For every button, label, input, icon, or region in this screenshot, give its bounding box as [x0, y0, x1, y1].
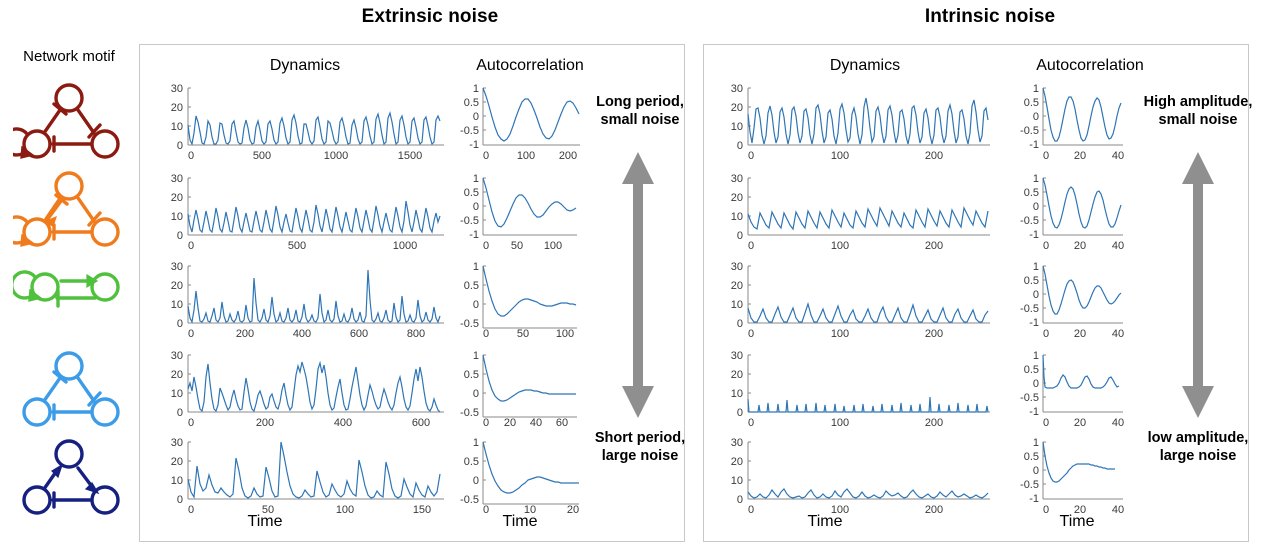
figure-root: Extrinsic noise Intrinsic noise Network … — [0, 0, 1269, 553]
svg-text:1: 1 — [1033, 173, 1039, 185]
plot-intrinsic-r1-autocorr: 1 0.5 0 -0.5 -1 0 20 40 — [1015, 80, 1145, 165]
svg-text:1: 1 — [473, 350, 479, 362]
svg-text:20: 20 — [731, 456, 743, 468]
svg-text:1000: 1000 — [393, 240, 417, 252]
svg-text:-0.5: -0.5 — [1020, 479, 1039, 491]
svg-text:0: 0 — [177, 140, 183, 152]
svg-text:1: 1 — [1033, 350, 1039, 362]
svg-text:-1: -1 — [469, 139, 479, 151]
svg-text:0.5: 0.5 — [1024, 451, 1039, 463]
svg-text:0.5: 0.5 — [1024, 275, 1039, 287]
svg-text:0.5: 0.5 — [1024, 364, 1039, 376]
svg-text:0: 0 — [473, 388, 479, 400]
svg-text:20: 20 — [731, 280, 743, 292]
svg-text:-0.5: -0.5 — [460, 494, 479, 506]
svg-text:0: 0 — [737, 230, 743, 242]
svg-text:-0.5: -0.5 — [1020, 392, 1039, 404]
svg-text:10: 10 — [171, 299, 183, 311]
plot-extrinsic-r5-dynamics: 30 20 10 0 0 50 100 150 — [155, 434, 445, 519]
col-header-intrinsic-dynamics: Dynamics — [765, 57, 965, 75]
svg-text:0: 0 — [483, 328, 489, 340]
svg-text:30: 30 — [171, 173, 183, 185]
svg-text:200: 200 — [236, 328, 254, 340]
svg-text:40: 40 — [1112, 417, 1124, 429]
plot-extrinsic-r1-dynamics: 30 20 10 0 0 500 1000 1500 — [155, 80, 445, 165]
svg-text:20: 20 — [1074, 150, 1086, 162]
svg-text:1: 1 — [1033, 83, 1039, 95]
plot-extrinsic-r4-autocorr: 1 0.5 0 -0.5 0 20 40 60 — [455, 347, 585, 432]
svg-text:200: 200 — [559, 150, 577, 162]
svg-text:0: 0 — [483, 417, 489, 429]
svg-text:600: 600 — [350, 328, 368, 340]
svg-text:0: 0 — [188, 504, 194, 516]
plot-intrinsic-r2-dynamics: 30 20 10 0 0 100 200 — [715, 170, 1005, 255]
svg-text:200: 200 — [925, 150, 943, 162]
svg-text:10: 10 — [731, 388, 743, 400]
svg-text:10: 10 — [171, 475, 183, 487]
svg-text:0: 0 — [473, 475, 479, 487]
svg-text:100: 100 — [831, 417, 849, 429]
svg-text:0: 0 — [188, 240, 194, 252]
svg-text:10: 10 — [731, 211, 743, 223]
plot-extrinsic-r5-autocorr: 1 0.5 0 -0.5 0 10 20 — [455, 434, 585, 519]
svg-text:0.5: 0.5 — [464, 280, 479, 292]
axis-title-intrinsic-autocorr: Time — [1022, 513, 1132, 531]
annotation-intrinsic-top-line2: small noise — [1159, 112, 1238, 128]
svg-text:10: 10 — [731, 121, 743, 133]
svg-text:40: 40 — [1112, 150, 1124, 162]
svg-text:800: 800 — [407, 328, 425, 340]
svg-text:30: 30 — [731, 261, 743, 273]
annotation-extrinsic-top-line2: small noise — [601, 112, 680, 128]
axis-title-extrinsic-autocorr: Time — [465, 513, 575, 531]
annotation-intrinsic-bottom-line2: large noise — [1160, 448, 1237, 464]
svg-text:-0.5: -0.5 — [460, 318, 479, 330]
svg-text:0: 0 — [748, 504, 754, 516]
svg-text:0: 0 — [483, 150, 489, 162]
svg-text:10: 10 — [731, 475, 743, 487]
svg-text:100: 100 — [831, 328, 849, 340]
annotation-extrinsic-bottom-line1: Short period, — [595, 430, 685, 446]
svg-text:0: 0 — [473, 201, 479, 213]
motif-dark-red — [8, 82, 130, 168]
svg-text:30: 30 — [171, 261, 183, 273]
svg-text:1: 1 — [1033, 437, 1039, 449]
svg-text:0: 0 — [748, 328, 754, 340]
svg-text:0: 0 — [748, 417, 754, 429]
svg-text:0.5: 0.5 — [464, 97, 479, 109]
svg-text:1: 1 — [473, 437, 479, 449]
svg-text:-0.5: -0.5 — [1020, 303, 1039, 315]
svg-text:0: 0 — [737, 407, 743, 419]
svg-text:0: 0 — [177, 230, 183, 242]
plot-extrinsic-r3-autocorr: 1 0.5 0 -0.5 0 50 100 — [455, 258, 585, 343]
svg-text:0: 0 — [483, 240, 489, 252]
svg-text:0.5: 0.5 — [1024, 187, 1039, 199]
svg-text:0: 0 — [737, 140, 743, 152]
svg-text:100: 100 — [831, 150, 849, 162]
svg-text:20: 20 — [171, 369, 183, 381]
svg-text:0: 0 — [188, 150, 194, 162]
svg-text:100: 100 — [336, 504, 354, 516]
svg-text:20: 20 — [504, 417, 516, 429]
annotation-extrinsic-top-line1: Long period, — [596, 94, 684, 110]
svg-text:20: 20 — [1074, 240, 1086, 252]
svg-text:-0.5: -0.5 — [460, 407, 479, 419]
svg-text:600: 600 — [412, 417, 430, 429]
plot-extrinsic-r1-autocorr: 1 0.5 0 -0.5 -1 0 100 200 — [455, 80, 585, 165]
svg-text:0: 0 — [1033, 465, 1039, 477]
svg-text:40: 40 — [530, 417, 542, 429]
svg-text:40: 40 — [1112, 328, 1124, 340]
svg-text:0.5: 0.5 — [464, 187, 479, 199]
col-header-intrinsic-autocorrelation: Autocorrelation — [1000, 57, 1180, 75]
svg-text:200: 200 — [925, 504, 943, 516]
plot-intrinsic-r3-dynamics: 30 20 10 0 0 100 200 — [715, 258, 1005, 343]
motif-orange — [8, 170, 130, 256]
svg-text:-1: -1 — [1029, 493, 1039, 505]
svg-text:0: 0 — [748, 150, 754, 162]
motif-light-blue — [8, 350, 130, 436]
svg-text:30: 30 — [731, 83, 743, 95]
plot-extrinsic-r2-dynamics: 30 20 10 0 0 500 1000 — [155, 170, 445, 255]
axis-title-extrinsic-dynamics: Time — [205, 513, 325, 531]
col-header-extrinsic-autocorrelation: Autocorrelation — [440, 57, 620, 75]
svg-text:400: 400 — [293, 328, 311, 340]
svg-text:-0.5: -0.5 — [1020, 215, 1039, 227]
svg-text:50: 50 — [511, 240, 523, 252]
svg-text:0: 0 — [177, 318, 183, 330]
svg-text:-1: -1 — [1029, 229, 1039, 241]
plot-intrinsic-r1-dynamics: 30 20 10 0 0 100 200 — [715, 80, 1005, 165]
svg-text:20: 20 — [171, 102, 183, 114]
svg-text:1: 1 — [473, 173, 479, 185]
panel-title-intrinsic: Intrinsic noise — [830, 6, 1150, 28]
double-headed-vertical-arrow-icon-intrinsic — [1173, 150, 1223, 425]
annotation-extrinsic-bottom: Short period, large noise — [584, 430, 696, 465]
svg-text:20: 20 — [171, 192, 183, 204]
svg-text:-1: -1 — [1029, 139, 1039, 151]
svg-text:0: 0 — [737, 318, 743, 330]
svg-text:20: 20 — [1074, 328, 1086, 340]
annotation-extrinsic-top: Long period, small noise — [586, 94, 694, 129]
svg-text:0: 0 — [177, 407, 183, 419]
svg-text:10: 10 — [171, 211, 183, 223]
svg-text:-0.5: -0.5 — [460, 125, 479, 137]
motif-navy — [8, 438, 130, 524]
svg-text:-1: -1 — [469, 229, 479, 241]
svg-text:0: 0 — [1033, 289, 1039, 301]
svg-text:0: 0 — [737, 494, 743, 506]
svg-text:-1: -1 — [1029, 317, 1039, 329]
svg-text:20: 20 — [171, 456, 183, 468]
svg-text:0: 0 — [1043, 328, 1049, 340]
plot-intrinsic-r4-dynamics: 30 20 10 0 0 100 200 — [715, 347, 1005, 432]
svg-text:0.5: 0.5 — [464, 369, 479, 381]
svg-text:20: 20 — [731, 192, 743, 204]
svg-text:500: 500 — [288, 240, 306, 252]
svg-text:0: 0 — [1043, 150, 1049, 162]
svg-text:10: 10 — [171, 121, 183, 133]
svg-text:200: 200 — [256, 417, 274, 429]
svg-text:1000: 1000 — [324, 150, 348, 162]
network-motif-column-label: Network motif — [8, 48, 130, 65]
annotation-intrinsic-bottom: low amplitude, large noise — [1136, 430, 1260, 465]
svg-text:100: 100 — [544, 240, 562, 252]
svg-text:30: 30 — [731, 173, 743, 185]
svg-text:-0.5: -0.5 — [460, 215, 479, 227]
svg-text:0: 0 — [188, 417, 194, 429]
annotation-intrinsic-bottom-line1: low amplitude, — [1148, 430, 1249, 446]
svg-text:100: 100 — [517, 150, 535, 162]
svg-text:20: 20 — [731, 369, 743, 381]
svg-text:10: 10 — [171, 388, 183, 400]
svg-text:0: 0 — [473, 299, 479, 311]
plot-intrinsic-r2-autocorr: 1 0.5 0 -0.5 -1 0 20 40 — [1015, 170, 1145, 255]
motif-green — [8, 265, 130, 351]
annotation-intrinsic-top: High amplitude, small noise — [1136, 94, 1260, 129]
svg-text:0: 0 — [1043, 417, 1049, 429]
svg-text:-1: -1 — [1029, 406, 1039, 418]
plot-extrinsic-r4-dynamics: 30 20 10 0 0 200 400 600 — [155, 347, 445, 432]
svg-text:50: 50 — [517, 328, 529, 340]
svg-text:60: 60 — [556, 417, 568, 429]
svg-text:30: 30 — [731, 437, 743, 449]
svg-text:500: 500 — [253, 150, 271, 162]
svg-text:0: 0 — [1033, 111, 1039, 123]
svg-text:1: 1 — [473, 83, 479, 95]
svg-text:20: 20 — [171, 280, 183, 292]
plot-intrinsic-r5-autocorr: 1 0.5 0 -0.5 -1 0 20 40 — [1015, 434, 1145, 519]
plot-intrinsic-r5-dynamics: 30 20 10 0 0 100 200 — [715, 434, 1005, 519]
svg-text:30: 30 — [171, 437, 183, 449]
svg-text:150: 150 — [413, 504, 431, 516]
svg-text:0.5: 0.5 — [464, 456, 479, 468]
svg-text:200: 200 — [925, 240, 943, 252]
panel-title-extrinsic: Extrinsic noise — [270, 6, 590, 28]
svg-text:1: 1 — [473, 261, 479, 273]
plot-intrinsic-r3-autocorr: 1 0.5 0 -0.5 -1 0 20 40 — [1015, 258, 1145, 343]
svg-text:20: 20 — [1074, 417, 1086, 429]
svg-text:-0.5: -0.5 — [1020, 125, 1039, 137]
svg-text:10: 10 — [731, 299, 743, 311]
svg-text:200: 200 — [925, 328, 943, 340]
svg-text:0: 0 — [1043, 240, 1049, 252]
annotation-intrinsic-top-line1: High amplitude, — [1144, 94, 1253, 110]
svg-text:0: 0 — [188, 328, 194, 340]
double-headed-vertical-arrow-icon-extrinsic — [613, 150, 663, 425]
col-header-extrinsic-dynamics: Dynamics — [205, 57, 405, 75]
svg-text:1500: 1500 — [398, 150, 422, 162]
plot-extrinsic-r3-dynamics: 30 20 10 0 0 200 400 600 800 — [155, 258, 445, 343]
svg-text:0: 0 — [1033, 378, 1039, 390]
svg-text:0: 0 — [1033, 201, 1039, 213]
plot-intrinsic-r4-autocorr: 1 0.5 0 -0.5 -1 0 20 40 — [1015, 347, 1145, 432]
svg-text:1: 1 — [1033, 261, 1039, 273]
svg-text:30: 30 — [171, 350, 183, 362]
axis-title-intrinsic-dynamics: Time — [765, 513, 885, 531]
svg-text:30: 30 — [171, 83, 183, 95]
svg-text:400: 400 — [334, 417, 352, 429]
svg-text:100: 100 — [556, 328, 574, 340]
svg-text:40: 40 — [1112, 240, 1124, 252]
svg-text:0: 0 — [473, 111, 479, 123]
svg-text:0: 0 — [177, 494, 183, 506]
svg-text:30: 30 — [731, 350, 743, 362]
svg-text:0.5: 0.5 — [1024, 97, 1039, 109]
svg-text:100: 100 — [831, 240, 849, 252]
plot-extrinsic-r2-autocorr: 1 0.5 0 -0.5 -1 0 50 100 — [455, 170, 585, 255]
annotation-extrinsic-bottom-line2: large noise — [602, 448, 679, 464]
svg-text:20: 20 — [731, 102, 743, 114]
svg-text:0: 0 — [748, 240, 754, 252]
svg-text:200: 200 — [925, 417, 943, 429]
